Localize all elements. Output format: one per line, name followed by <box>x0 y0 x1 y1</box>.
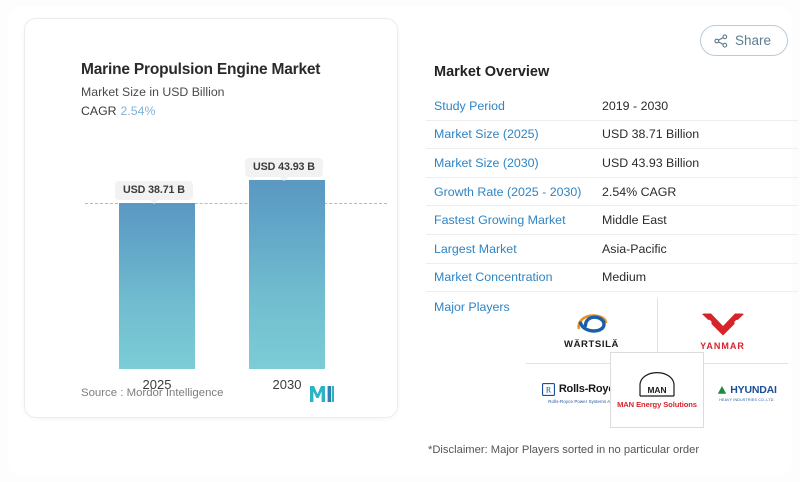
hyundai-triangle-icon <box>717 385 727 395</box>
major-players-label: Major Players <box>434 300 510 314</box>
row-key: Largest Market <box>434 242 602 256</box>
chart-subtitle: Market Size in USD Billion <box>81 85 225 99</box>
mordor-intelligence-logo <box>309 385 335 403</box>
table-row: Market Size (2025) USD 38.71 Billion <box>426 121 798 150</box>
bar-2025[interactable] <box>119 203 195 369</box>
wartsila-swoosh-icon <box>575 313 609 333</box>
player-sub-man: MAN Energy Solutions <box>617 400 697 409</box>
rolls-royce-rr-icon: R <box>542 383 555 396</box>
bar-value-label-2025: USD 38.71 B <box>115 181 193 200</box>
player-logo-man-box: MAN MAN Energy Solutions <box>610 352 704 428</box>
row-key: Study Period <box>434 99 602 113</box>
major-players-logo-grid: WÄRTSILÄ YANMAR <box>526 298 788 428</box>
share-button-label: Share <box>735 33 771 48</box>
table-row: Fastest Growing Market Middle East <box>426 206 798 235</box>
player-logo-hyundai: HYUNDAI HEAVY INDUSTRIES CO.,LTD. <box>706 372 788 414</box>
player-sub-hyundai: HEAVY INDUSTRIES CO.,LTD. <box>719 398 775 402</box>
bar-value-label-2030: USD 43.93 B <box>245 158 323 177</box>
row-value: USD 43.93 Billion <box>602 156 699 170</box>
source-attribution: Source : Mordor Intelligence <box>81 387 223 399</box>
row-key: Market Concentration <box>434 270 602 284</box>
player-name-yanmar: YANMAR <box>700 341 746 351</box>
table-row: Growth Rate (2025 - 2030) 2.54% CAGR <box>426 178 798 207</box>
row-value: 2019 - 2030 <box>602 99 668 113</box>
cagr-label: CAGR <box>81 104 117 118</box>
table-row: Largest Market Asia-Pacific <box>426 235 798 264</box>
row-key: Market Size (2030) <box>434 156 602 170</box>
page-canvas: Marine Propulsion Engine Market Market S… <box>8 6 792 476</box>
row-key: Fastest Growing Market <box>434 213 602 227</box>
market-size-chart-card: Marine Propulsion Engine Market Market S… <box>24 18 398 418</box>
table-row: Market Concentration Medium <box>426 264 798 293</box>
bar-2030[interactable] <box>249 180 325 369</box>
row-value: USD 38.71 Billion <box>602 127 699 141</box>
row-value: 2.54% CAGR <box>602 185 676 199</box>
cagr-row: CAGR2.54% <box>81 104 155 118</box>
row-value: Asia-Pacific <box>602 242 667 256</box>
share-button[interactable]: Share <box>700 25 788 56</box>
share-network-icon <box>714 34 728 48</box>
bar-chart-plot: USD 38.71 B USD 43.93 B 2025 2030 <box>41 139 399 369</box>
table-row: Study Period 2019 - 2030 <box>426 92 798 121</box>
players-disclaimer: *Disclaimer: Major Players sorted in no … <box>428 444 699 456</box>
chart-title: Marine Propulsion Engine Market <box>81 61 320 79</box>
svg-text:R: R <box>546 385 552 394</box>
table-row: Market Size (2030) USD 43.93 Billion <box>426 149 798 178</box>
cagr-value: 2.54% <box>121 104 156 118</box>
row-key: Market Size (2025) <box>434 127 602 141</box>
market-overview-title: Market Overview <box>434 64 549 80</box>
row-value: Medium <box>602 270 646 284</box>
screenshot-root: Marine Propulsion Engine Market Market S… <box>0 0 800 482</box>
player-name-hyundai: HYUNDAI <box>730 384 776 396</box>
row-value: Middle East <box>602 213 667 227</box>
market-overview-panel: Share Market Overview Study Period 2019 … <box>416 18 798 476</box>
market-overview-table: Study Period 2019 - 2030 Market Size (20… <box>426 92 798 322</box>
player-name-wartsila: WÄRTSILÄ <box>564 339 619 350</box>
yanmar-chevron-icon <box>700 312 746 336</box>
svg-text:MAN: MAN <box>647 385 666 395</box>
man-arch-icon: MAN <box>637 371 677 397</box>
player-sub-rolls-royce: Rolls-Royce Power Systems AG <box>548 399 614 404</box>
row-key: Growth Rate (2025 - 2030) <box>434 185 602 199</box>
